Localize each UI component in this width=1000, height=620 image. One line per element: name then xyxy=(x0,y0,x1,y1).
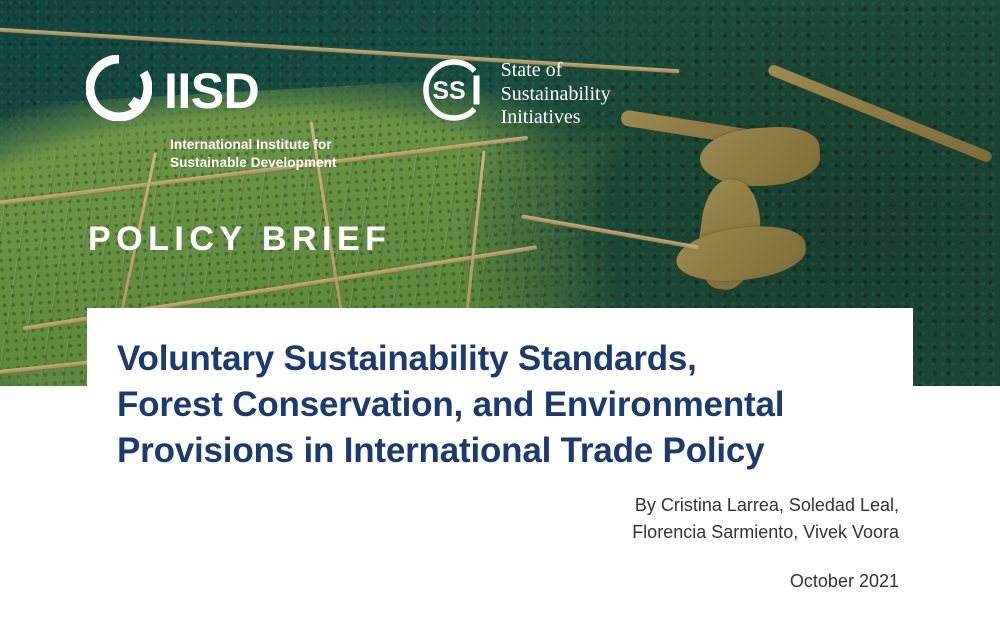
iisd-tagline: International Institute for Sustainable … xyxy=(170,136,337,172)
svg-text:SS: SS xyxy=(432,77,465,105)
ssi-circle-logo-icon: SS xyxy=(421,57,487,128)
byline-block: By Cristina Larrea, Soledad Leal, Floren… xyxy=(632,492,899,595)
authors-line: By Cristina Larrea, Soledad Leal, Floren… xyxy=(632,492,899,546)
iisd-logo-row: IISD xyxy=(86,55,259,126)
iisd-ring-logo-icon xyxy=(86,55,152,126)
title-card: Voluntary Sustainability Standards, Fore… xyxy=(87,308,913,500)
publication-date: October 2021 xyxy=(632,568,899,595)
ssi-wordmark: State of Sustainability Initiatives xyxy=(501,57,611,130)
document-cover-page: IISD International Institute for Sustain… xyxy=(0,0,1000,620)
iisd-logo-lockup: IISD International Institute for Sustain… xyxy=(86,55,337,172)
page-title: Voluntary Sustainability Standards, Fore… xyxy=(117,336,879,474)
iisd-wordmark: IISD xyxy=(164,66,259,116)
kicker-policy-brief: POLICY BRIEF xyxy=(88,222,391,256)
logo-lockup-row: IISD International Institute for Sustain… xyxy=(86,55,611,172)
ssi-logo-lockup: SS State of Sustainability Initiatives xyxy=(421,57,611,130)
